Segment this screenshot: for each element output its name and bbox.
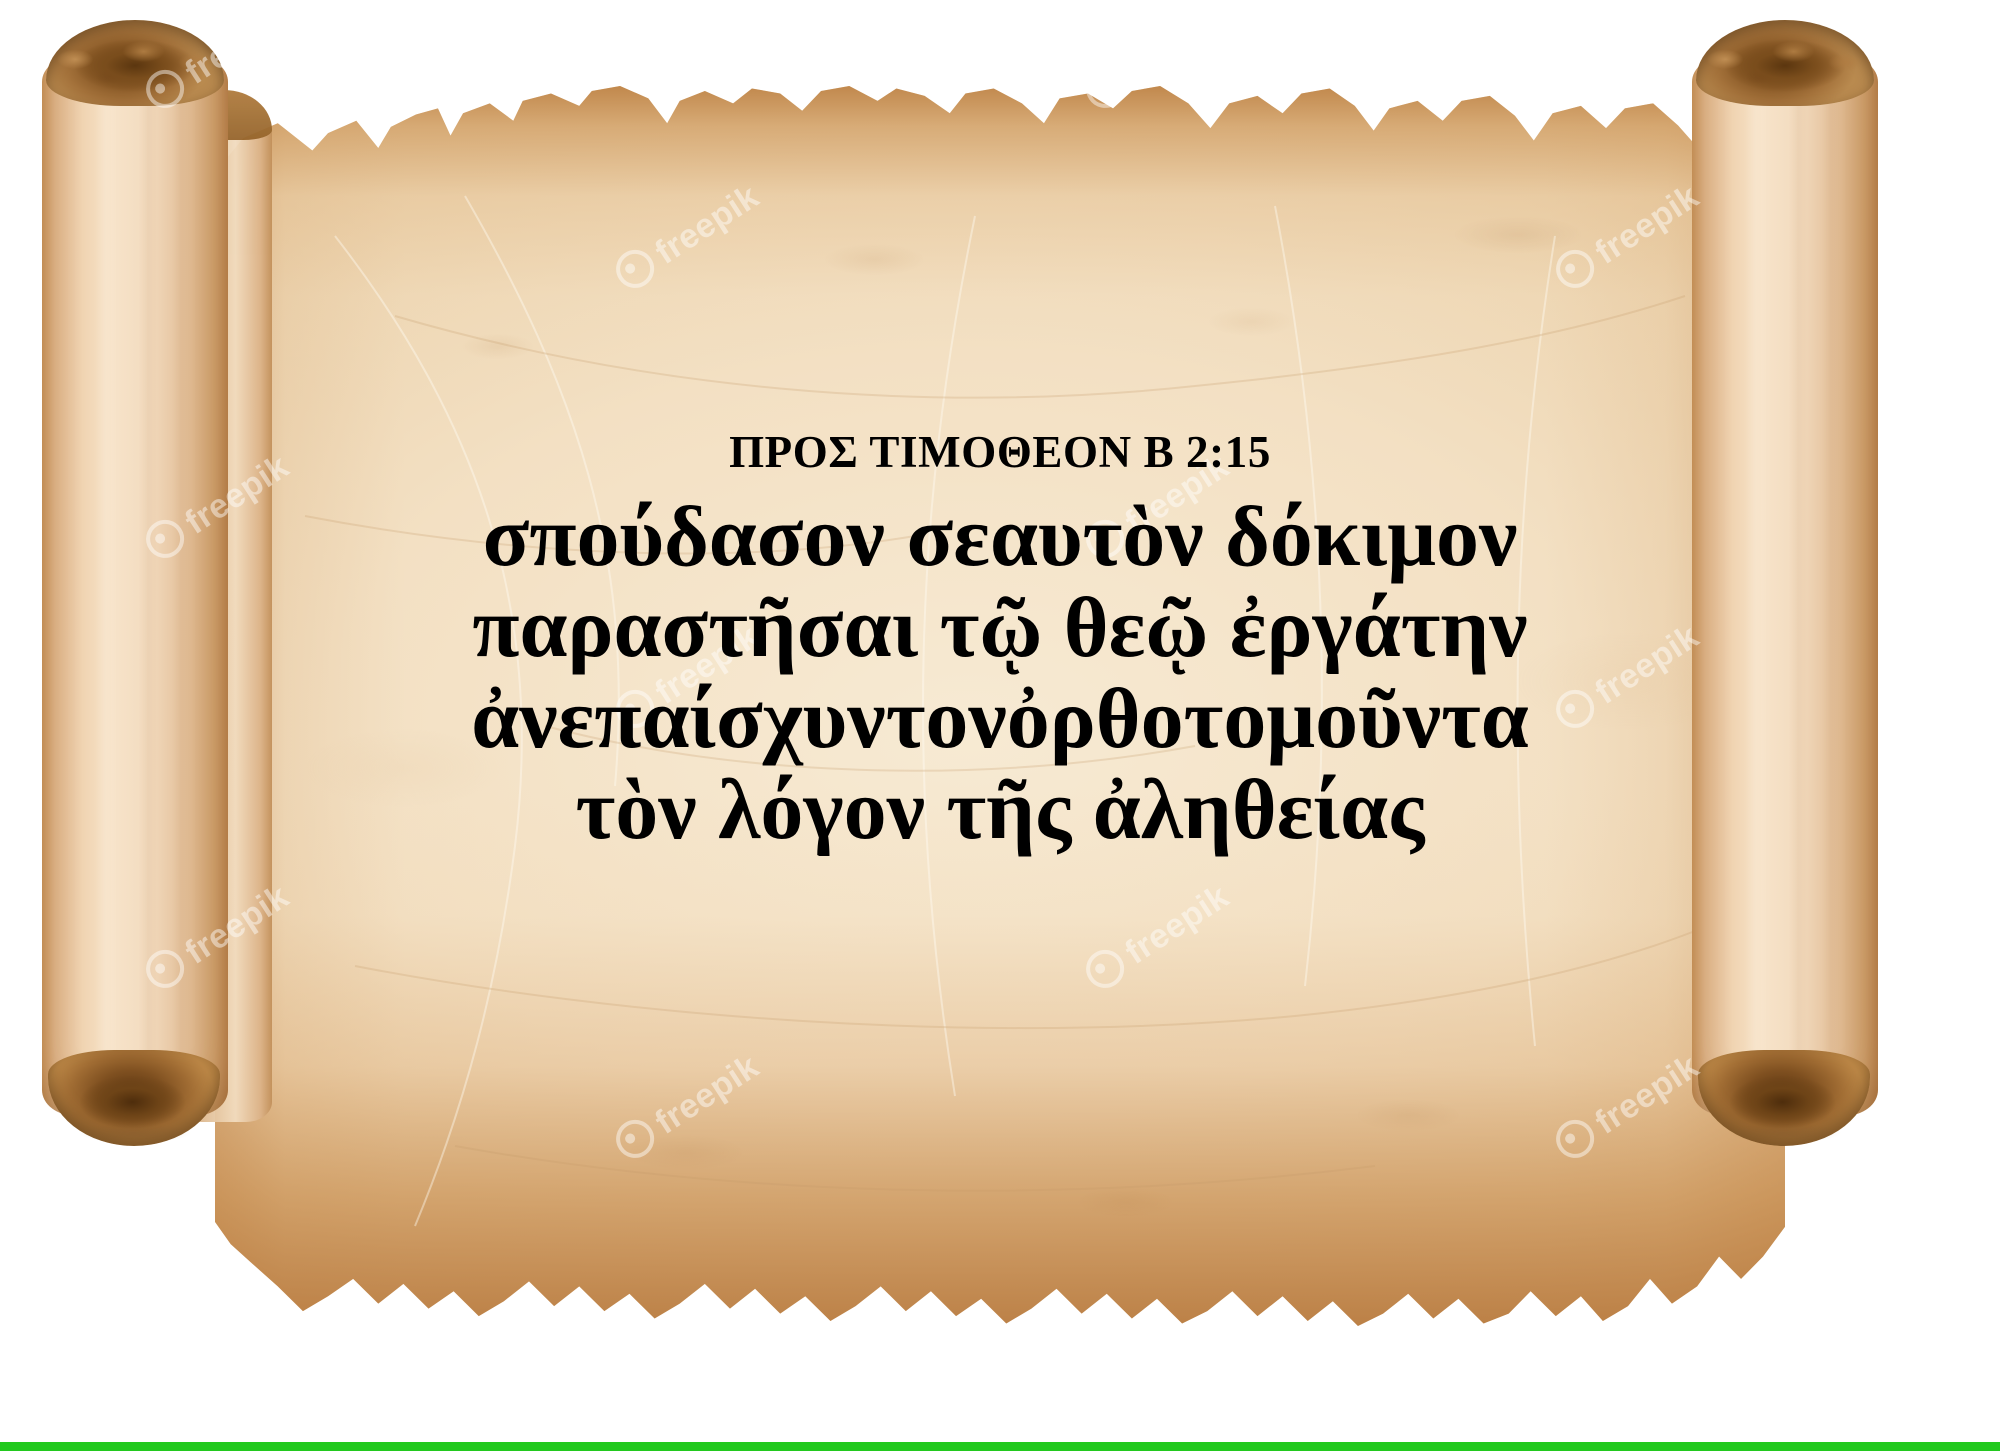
green-accent-bar bbox=[0, 1442, 2000, 1451]
verse-line-3: ἀνεπαίσχυντονὀρθοτομοῦντα bbox=[215, 673, 1785, 764]
verse-line-2: παραστῆσαι τῷ θεῷ ἐργάτην bbox=[215, 582, 1785, 673]
verse-line-4: τὸν λόγον τῆς ἀληθείας bbox=[215, 764, 1785, 855]
verse-line-1: σπούδασον σεαυτὸν δόκιμον bbox=[215, 491, 1785, 582]
left-roll-cylinder bbox=[42, 56, 228, 1116]
left-rolled-end bbox=[42, 20, 228, 1116]
freepik-watermark-label: freepik bbox=[1119, 0, 1236, 92]
scroll-image-canvas: freepikfreepikfreepikfreepikfreepikfreep… bbox=[0, 0, 2000, 1451]
verse-reference: ΠΡΟΣ ΤΙΜΟΘΕΟΝ Β 2:15 bbox=[215, 430, 1785, 475]
left-roll-top-spiral bbox=[46, 20, 224, 106]
left-roll-shadow bbox=[60, 1120, 210, 1146]
verse-text-block: ΠΡΟΣ ΤΙΜΟΘΕΟΝ Β 2:15 σπούδασον σεαυτὸν δ… bbox=[215, 430, 1785, 856]
right-roll-top-spiral bbox=[1696, 20, 1874, 106]
right-roll-shadow bbox=[1710, 1120, 1860, 1146]
